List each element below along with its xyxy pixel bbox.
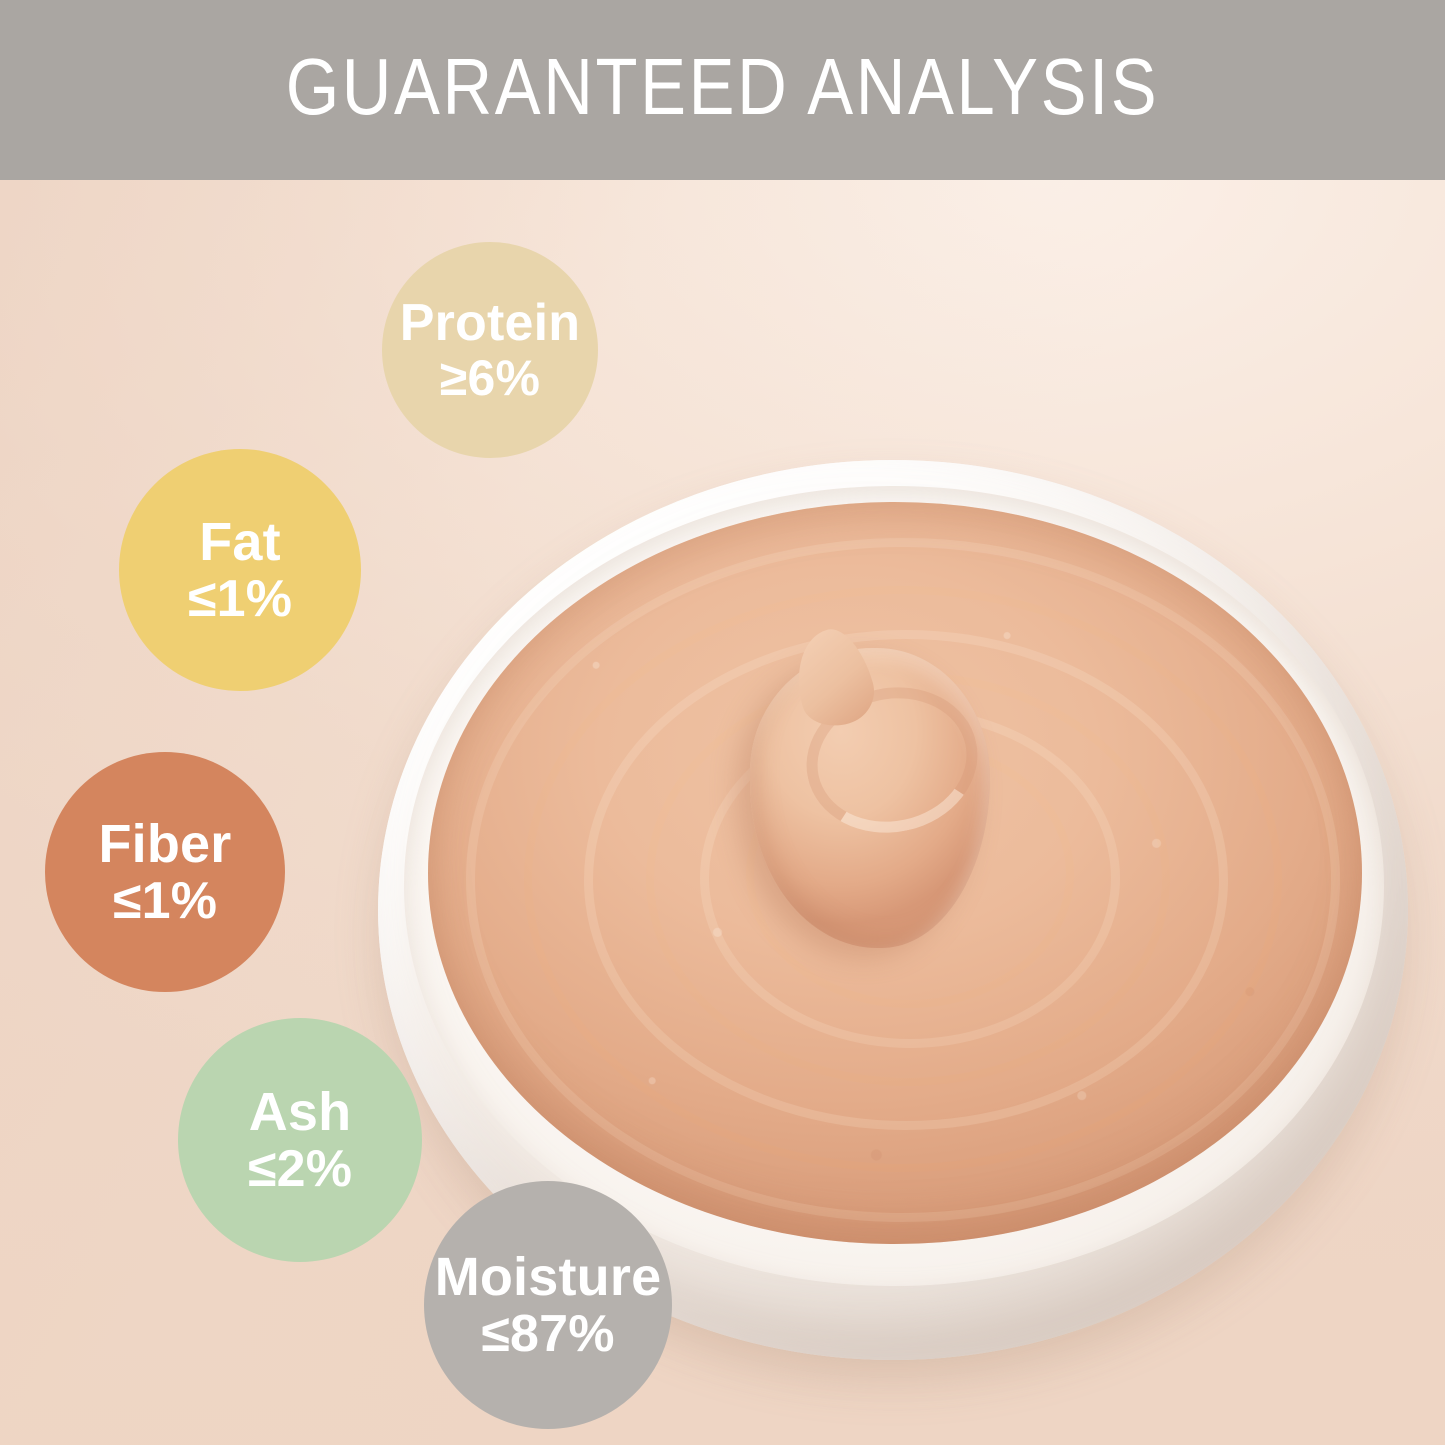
nutrient-badge-protein: Protein≥6% [382, 242, 598, 458]
nutrient-name-protein: Protein [400, 295, 581, 351]
nutrient-name-fat: Fat [199, 513, 281, 571]
nutrient-name-fiber: Fiber [98, 815, 231, 873]
nutrient-value-protein: ≥6% [440, 351, 540, 405]
nutrient-value-fiber: ≤1% [113, 873, 217, 929]
header-banner: GUARANTEED ANALYSIS [0, 0, 1445, 180]
nutrient-badge-fiber: Fiber≤1% [45, 752, 285, 992]
nutrient-name-moisture: Moisture [435, 1248, 662, 1306]
nutrient-value-fat: ≤1% [188, 571, 292, 627]
nutrient-name-ash: Ash [249, 1083, 352, 1141]
nutrient-badge-moisture: Moisture≤87% [424, 1181, 672, 1429]
pate-food-surface [428, 502, 1362, 1244]
nutrient-badge-fat: Fat≤1% [119, 449, 361, 691]
nutrient-value-moisture: ≤87% [481, 1306, 614, 1362]
nutrient-value-ash: ≤2% [248, 1141, 352, 1197]
nutrient-badge-ash: Ash≤2% [178, 1018, 422, 1262]
guaranteed-analysis-infographic: GUARANTEED ANALYSIS Protein≥6%Fat≤1%Fibe… [0, 0, 1445, 1445]
page-title: GUARANTEED ANALYSIS [101, 0, 1344, 180]
